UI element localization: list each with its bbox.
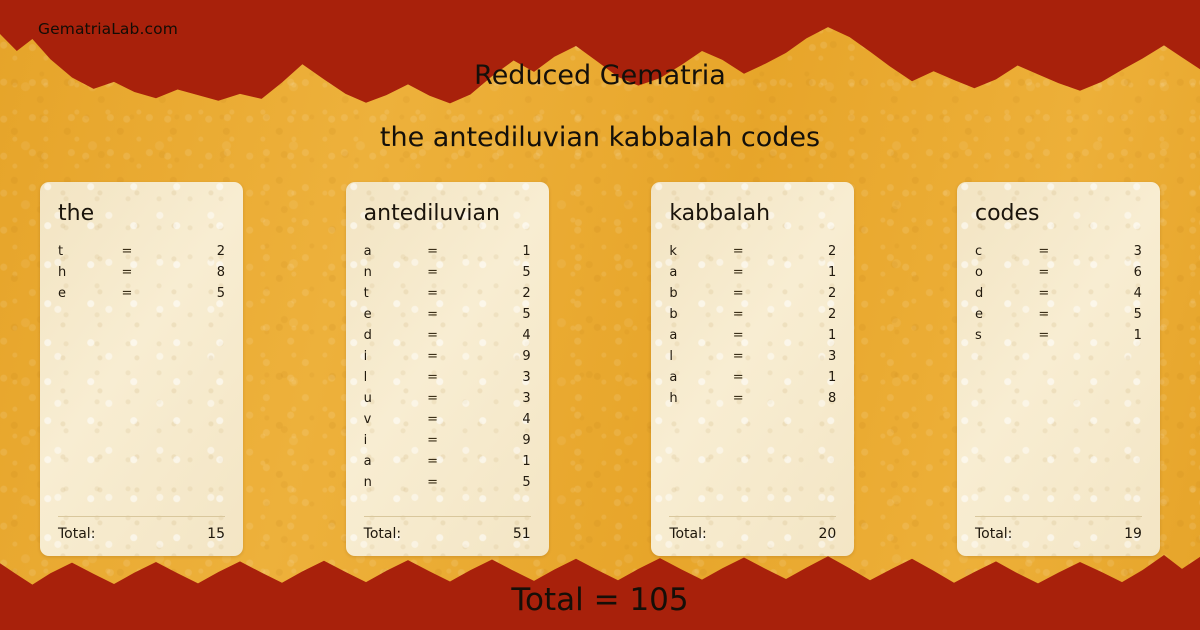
equals-sign: =: [427, 475, 464, 490]
word-card: codesc=3o=6d=4e=5s=1Total:19: [957, 182, 1160, 556]
letter-value-row: o=6: [975, 265, 1142, 286]
row-value: 2: [770, 307, 837, 322]
row-value: 4: [464, 412, 531, 427]
letter-value-row: a=1: [364, 244, 531, 265]
site-watermark: GematriaLab.com: [38, 20, 178, 38]
row-value: 9: [464, 433, 531, 448]
row-value: 1: [464, 244, 531, 259]
row-letter: a: [364, 244, 427, 259]
row-value: 6: [1075, 265, 1142, 280]
letter-value-row: b=2: [669, 286, 836, 307]
equals-sign: =: [733, 244, 770, 259]
row-value: 3: [464, 391, 531, 406]
row-value: 5: [464, 475, 531, 490]
equals-sign: =: [1038, 244, 1075, 259]
row-letter: h: [669, 391, 732, 406]
equals-sign: =: [1038, 265, 1075, 280]
letter-value-row: c=3: [975, 244, 1142, 265]
word-card: kabbalahk=2a=1b=2b=2a=1l=3a=1h=8Total:20: [651, 182, 854, 556]
letter-value-row: n=5: [364, 475, 531, 496]
letter-value-row: l=3: [364, 370, 531, 391]
card-total-row: Total:15: [58, 516, 225, 556]
letter-value-row: h=8: [58, 265, 225, 286]
card-total-row: Total:19: [975, 516, 1142, 556]
row-letter: l: [669, 349, 732, 364]
equals-sign: =: [1038, 328, 1075, 343]
letter-value-row: h=8: [669, 391, 836, 412]
equals-sign: =: [733, 349, 770, 364]
row-value: 2: [158, 244, 225, 259]
equals-sign: =: [427, 244, 464, 259]
letter-value-row: d=4: [364, 328, 531, 349]
row-letter: d: [364, 328, 427, 343]
row-letter: b: [669, 286, 732, 301]
equals-sign: =: [121, 286, 158, 301]
card-total-value: 15: [207, 526, 225, 542]
page-title: Reduced Gematria: [0, 60, 1200, 91]
row-value: 8: [158, 265, 225, 280]
card-total-row: Total:51: [364, 516, 531, 556]
row-letter: l: [364, 370, 427, 385]
card-total-label: Total:: [669, 526, 706, 542]
card-total-label: Total:: [58, 526, 95, 542]
card-total-value: 19: [1124, 526, 1142, 542]
equals-sign: =: [427, 328, 464, 343]
row-value: 2: [770, 244, 837, 259]
letter-value-row: s=1: [975, 328, 1142, 349]
equals-sign: =: [427, 433, 464, 448]
row-letter: a: [669, 328, 732, 343]
letter-value-row: e=5: [364, 307, 531, 328]
card-word-label: kabbalah: [669, 200, 836, 228]
equals-sign: =: [733, 307, 770, 322]
word-card: antediluviana=1n=5t=2e=5d=4i=9l=3u=3v=4i…: [346, 182, 549, 556]
card-word-label: antediluvian: [364, 200, 531, 228]
card-total-value: 51: [513, 526, 531, 542]
equals-sign: =: [427, 391, 464, 406]
letter-value-row: l=3: [669, 349, 836, 370]
row-value: 1: [464, 454, 531, 469]
row-value: 4: [1075, 286, 1142, 301]
row-value: 8: [770, 391, 837, 406]
card-word-label: codes: [975, 200, 1142, 228]
equals-sign: =: [733, 391, 770, 406]
row-value: 5: [464, 307, 531, 322]
card-word-label: the: [58, 200, 225, 228]
grand-total: Total = 105: [0, 582, 1200, 618]
row-value: 3: [770, 349, 837, 364]
row-letter: h: [58, 265, 121, 280]
equals-sign: =: [121, 265, 158, 280]
row-letter: a: [364, 454, 427, 469]
row-letter: t: [364, 286, 427, 301]
row-letter: u: [364, 391, 427, 406]
letter-value-row: t=2: [364, 286, 531, 307]
row-value: 1: [1075, 328, 1142, 343]
letter-value-list: a=1n=5t=2e=5d=4i=9l=3u=3v=4i=9a=1n=5: [364, 244, 531, 517]
equals-sign: =: [733, 286, 770, 301]
row-letter: a: [669, 265, 732, 280]
equals-sign: =: [733, 328, 770, 343]
letter-value-row: i=9: [364, 433, 531, 454]
row-value: 4: [464, 328, 531, 343]
equals-sign: =: [121, 244, 158, 259]
equals-sign: =: [733, 265, 770, 280]
equals-sign: =: [733, 370, 770, 385]
row-letter: n: [364, 265, 427, 280]
row-value: 2: [770, 286, 837, 301]
letter-value-row: i=9: [364, 349, 531, 370]
row-value: 5: [158, 286, 225, 301]
row-letter: k: [669, 244, 732, 259]
letter-value-row: d=4: [975, 286, 1142, 307]
equals-sign: =: [427, 370, 464, 385]
row-value: 1: [770, 265, 837, 280]
row-letter: t: [58, 244, 121, 259]
card-total-row: Total:20: [669, 516, 836, 556]
letter-value-list: c=3o=6d=4e=5s=1: [975, 244, 1142, 517]
equals-sign: =: [1038, 307, 1075, 322]
row-letter: o: [975, 265, 1038, 280]
letter-value-row: e=5: [58, 286, 225, 307]
letter-value-row: a=1: [669, 370, 836, 391]
row-value: 1: [770, 328, 837, 343]
letter-value-row: b=2: [669, 307, 836, 328]
equals-sign: =: [427, 307, 464, 322]
letter-value-row: a=1: [669, 265, 836, 286]
row-value: 9: [464, 349, 531, 364]
row-letter: c: [975, 244, 1038, 259]
letter-value-row: n=5: [364, 265, 531, 286]
row-value: 3: [464, 370, 531, 385]
row-value: 5: [1075, 307, 1142, 322]
card-total-label: Total:: [364, 526, 401, 542]
row-value: 1: [770, 370, 837, 385]
equals-sign: =: [427, 265, 464, 280]
equals-sign: =: [1038, 286, 1075, 301]
card-total-label: Total:: [975, 526, 1012, 542]
row-letter: e: [58, 286, 121, 301]
row-letter: b: [669, 307, 732, 322]
letter-value-row: a=1: [364, 454, 531, 475]
row-letter: i: [364, 433, 427, 448]
equals-sign: =: [427, 349, 464, 364]
row-letter: n: [364, 475, 427, 490]
letter-value-list: t=2h=8e=5: [58, 244, 225, 517]
equals-sign: =: [427, 454, 464, 469]
letter-value-row: e=5: [975, 307, 1142, 328]
row-letter: e: [364, 307, 427, 322]
row-letter: d: [975, 286, 1038, 301]
phrase-heading: the antediluvian kabbalah codes: [0, 122, 1200, 153]
row-value: 3: [1075, 244, 1142, 259]
letter-value-list: k=2a=1b=2b=2a=1l=3a=1h=8: [669, 244, 836, 517]
card-total-value: 20: [818, 526, 836, 542]
row-letter: v: [364, 412, 427, 427]
row-letter: s: [975, 328, 1038, 343]
row-value: 5: [464, 265, 531, 280]
letter-value-row: v=4: [364, 412, 531, 433]
equals-sign: =: [427, 286, 464, 301]
letter-value-row: u=3: [364, 391, 531, 412]
letter-value-row: a=1: [669, 328, 836, 349]
letter-value-row: t=2: [58, 244, 225, 265]
row-letter: e: [975, 307, 1038, 322]
letter-value-row: k=2: [669, 244, 836, 265]
row-letter: a: [669, 370, 732, 385]
row-value: 2: [464, 286, 531, 301]
row-letter: i: [364, 349, 427, 364]
word-cards-container: thet=2h=8e=5Total:15antediluviana=1n=5t=…: [40, 182, 1160, 556]
equals-sign: =: [427, 412, 464, 427]
word-card: thet=2h=8e=5Total:15: [40, 182, 243, 556]
poster-canvas: GematriaLab.com Reduced Gematria the ant…: [0, 0, 1200, 630]
